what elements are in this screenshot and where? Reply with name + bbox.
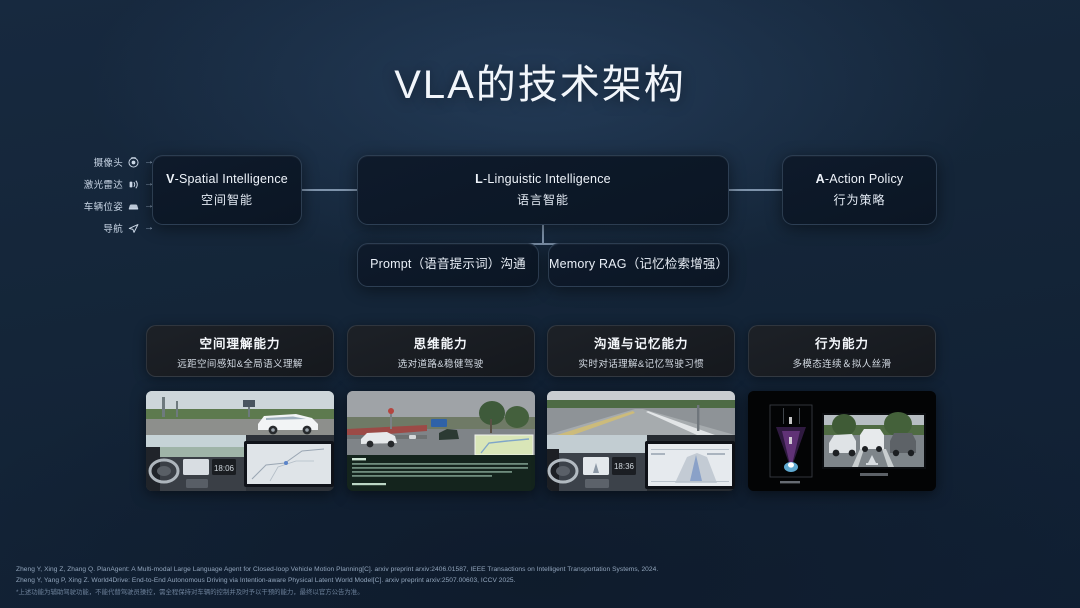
capability-card-spatial[interactable]: 空间理解能力 远距空间感知&全局语义理解 xyxy=(146,325,334,491)
arrow-icon: → xyxy=(144,223,154,233)
svg-text:18:36: 18:36 xyxy=(614,462,635,471)
card-subtitle: 多模态连续＆拟人丝滑 xyxy=(792,356,891,370)
node-spatial-intelligence[interactable]: V-Spatial Intelligence 空间智能 xyxy=(152,155,302,225)
disclaimer-text: *上述功能为辅助驾驶功能，不能代替驾驶员操控，需全程保持对车辆的控制并及时予以干… xyxy=(16,588,1016,598)
card-title: 思维能力 xyxy=(414,333,468,352)
capability-card-communication-memory[interactable]: 沟通与记忆能力 实时对话理解&记忆驾驶习惯 xyxy=(547,325,735,491)
node-title-cn: 空间智能 xyxy=(201,191,253,208)
page-title: VLA的技术架构 xyxy=(0,52,1080,110)
card-media-open-road-and-cockpit-display: 18:36 xyxy=(547,391,735,491)
node-title-text: -Linguistic Intelligence xyxy=(483,172,611,186)
capability-card-thinking[interactable]: 思维能力 选对道路&稳健驾驶 xyxy=(347,325,535,491)
footer: Zheng Y, Xing Z, Zhang Q. PlanAgent: A M… xyxy=(16,565,1016,598)
capability-card-action[interactable]: 行为能力 多模态连续＆拟人丝滑 xyxy=(748,325,936,491)
node-title-en: L-Linguistic Intelligence xyxy=(475,172,611,188)
node-title-text: -Spatial Intelligence xyxy=(175,172,288,186)
input-source-label: 导航 xyxy=(103,221,123,235)
node-prompt[interactable]: Prompt（语音提示词）沟通 xyxy=(357,243,539,287)
node-prefix: L xyxy=(475,172,483,186)
card-media-driving-exterior-and-cockpit-navigation: 18:06 xyxy=(146,391,334,491)
card-subtitle: 选对道路&稳健驾驶 xyxy=(398,356,484,370)
card-subtitle: 实时对话理解&记忆驾驶习惯 xyxy=(579,356,705,370)
slide-canvas: VLA的技术架构 摄像头 → 激光雷达 → xyxy=(0,0,1080,608)
vehicle-pose-icon xyxy=(127,200,140,213)
input-source-label: 摄像头 xyxy=(94,155,123,169)
card-title: 行为能力 xyxy=(815,333,869,352)
citation-1: Zheng Y, Xing Z, Zhang Q. PlanAgent: A M… xyxy=(16,565,1016,576)
input-source-label: 激光雷达 xyxy=(84,177,123,191)
citation-2: Zheng Y, Yang P, Xing Z. World4Drive: En… xyxy=(16,576,1016,587)
node-title-text: -Action Policy xyxy=(825,172,904,186)
node-title-cn: 语言智能 xyxy=(517,191,569,208)
card-media-lidar-pointcloud-and-camera-view xyxy=(748,391,936,491)
lidar-icon xyxy=(127,178,140,191)
node-prefix: A xyxy=(816,172,825,186)
card-title: 空间理解能力 xyxy=(199,333,280,352)
node-prefix: V xyxy=(166,172,175,186)
card-title: 沟通与记忆能力 xyxy=(594,333,689,352)
input-source-camera: 摄像头 → xyxy=(62,152,154,172)
capability-cards: 空间理解能力 远距空间感知&全局语义理解 xyxy=(146,325,936,491)
card-subtitle: 远距空间感知&全局语义理解 xyxy=(177,356,303,370)
input-sources-list: 摄像头 → 激光雷达 → 车辆位姿 xyxy=(62,152,154,240)
navigation-icon xyxy=(127,222,140,235)
node-title-en: A-Action Policy xyxy=(816,172,904,188)
connector-spatial-to-linguistic xyxy=(302,189,358,191)
node-title-en: V-Spatial Intelligence xyxy=(166,172,288,188)
svg-text:18:06: 18:06 xyxy=(214,464,235,473)
node-linguistic-intelligence[interactable]: L-Linguistic Intelligence 语言智能 xyxy=(357,155,729,225)
node-action-policy[interactable]: A-Action Policy 行为策略 xyxy=(782,155,937,225)
input-source-vehicle-pose: 车辆位姿 → xyxy=(62,196,154,216)
card-header: 思维能力 选对道路&稳健驾驶 xyxy=(347,325,535,377)
input-source-lidar: 激光雷达 → xyxy=(62,174,154,194)
node-memory-rag[interactable]: Memory RAG（记忆检索增强） xyxy=(548,243,729,287)
node-prompt-label: Prompt（语音提示词）沟通 xyxy=(370,257,526,273)
card-header: 行为能力 多模态连续＆拟人丝滑 xyxy=(748,325,936,377)
card-header: 沟通与记忆能力 实时对话理解&记忆驾驶习惯 xyxy=(547,325,735,377)
connector-linguistic-dropline xyxy=(542,225,544,243)
node-title-cn: 行为策略 xyxy=(833,191,885,208)
input-source-navigation: 导航 → xyxy=(62,218,154,238)
connector-linguistic-to-action xyxy=(729,189,783,191)
camera-icon xyxy=(127,156,140,169)
input-source-label: 车辆位姿 xyxy=(84,199,123,213)
card-header: 空间理解能力 远距空间感知&全局语义理解 xyxy=(146,325,334,377)
node-memory-label: Memory RAG（记忆检索增强） xyxy=(549,257,728,273)
card-media-dashcam-road-with-reasoning-text-panel xyxy=(347,391,535,491)
